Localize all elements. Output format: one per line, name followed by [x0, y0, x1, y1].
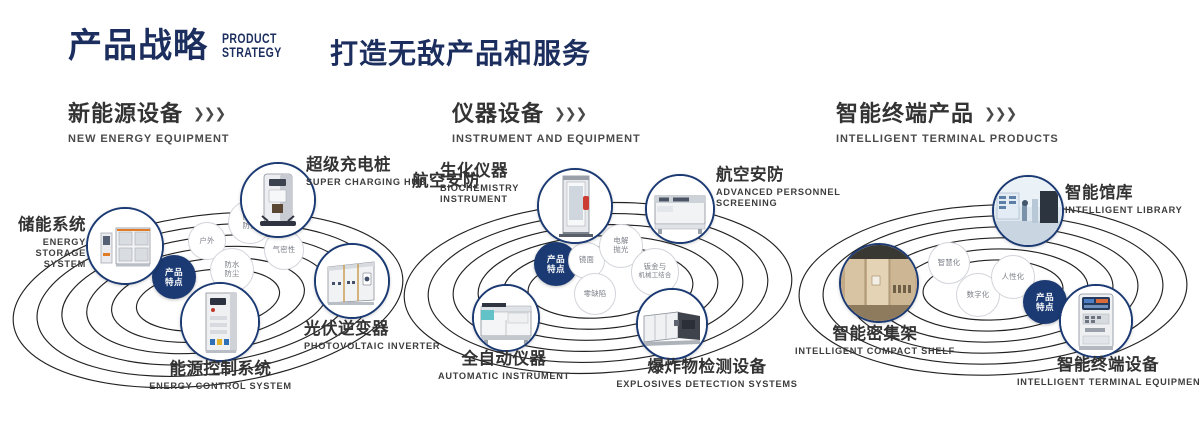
charging-pile-icon — [242, 164, 314, 236]
self-service-kiosk-icon — [1061, 286, 1131, 356]
node-label-intelligent-library: 智能馆库 INTELLIGENT LIBRARY — [1065, 184, 1195, 216]
section-heading-intelligent: 智能终端产品❯❯❯ INTELLIGENT TERMINAL PRODUCTS — [836, 96, 1059, 145]
node-label-biochemistry: 生化仪器 BIOCHEMISTRY INSTRUMENT — [440, 162, 544, 205]
section-title-cn-0: 新能源设备❯❯❯ — [68, 96, 229, 128]
node-label-explosives-detection: 爆炸物检测设备 EXPLOSIVES DETECTION SYSTEMS — [612, 358, 802, 390]
node-label-automatic-instrument: 全自动仪器 AUTOMATIC INSTRUMENT — [420, 350, 588, 382]
node-terminal-equipment[interactable] — [1059, 284, 1133, 358]
node-pv-inverter[interactable] — [314, 243, 390, 319]
screening-machine-icon — [647, 176, 713, 242]
node-automatic-instrument[interactable] — [472, 284, 540, 352]
node-label-compact-shelf: 智能密集架 INTELLIGENT COMPACT SHELF — [785, 325, 965, 357]
chevron-right-icon: ❯❯❯ — [554, 105, 586, 122]
control-cabinet-icon — [182, 284, 258, 360]
node-intelligent-library[interactable] — [992, 175, 1064, 247]
page-subtitle: 打造无敌产品和服务 — [330, 32, 591, 72]
node-explosives-detection[interactable] — [636, 288, 708, 360]
chevron-right-icon: ❯❯❯ — [193, 105, 225, 122]
section-heading-new-energy: 新能源设备❯❯❯ NEW ENERGY EQUIPMENT — [68, 96, 229, 145]
section-heading-instrument: 仪器设备❯❯❯ INSTRUMENT AND EQUIPMENT — [452, 96, 641, 145]
pv-inverter-cabinet-icon — [316, 245, 388, 317]
node-charging-hub[interactable] — [240, 162, 316, 238]
cluster-intelligent-terminal: 智慧化 数字化 人性化 产品 特点 智能馆库 INTELLIGENT LIBRA… — [795, 160, 1195, 410]
page-title-cn: 产品战略 — [68, 26, 208, 66]
center-bubble-line1: 产品 — [165, 267, 183, 277]
cluster-new-energy: 产品 特点 户外 防腐 防锈 防水 防尘 气密性 — [8, 160, 408, 410]
library-room-photo-icon — [994, 177, 1062, 245]
node-compact-shelf[interactable] — [839, 243, 919, 323]
section-title-en-1: INSTRUMENT AND EQUIPMENT — [452, 133, 641, 145]
biochemistry-scanner-icon — [539, 170, 611, 242]
node-label-energy-storage: 储能系统 ENERGY STORAGE SYSTEM — [2, 216, 86, 270]
node-label-terminal-equipment: 智能终端设备 INTELLIGENT TERMINAL EQUIPMENT — [1017, 356, 1199, 388]
section-title-en-0: NEW ENERGY EQUIPMENT — [68, 133, 229, 145]
section-title-cn-1: 仪器设备❯❯❯ — [452, 96, 641, 128]
node-energy-storage[interactable] — [86, 207, 164, 285]
compact-shelf-photo-icon — [841, 245, 917, 321]
node-label-energy-control: 能源控制系统 ENERGY CONTROL SYSTEM — [118, 360, 323, 392]
automatic-analyzer-icon — [474, 286, 538, 350]
explosives-detector-icon — [638, 290, 706, 358]
section-title-cn-2: 智能终端产品❯❯❯ — [836, 96, 1059, 128]
page-title-en-line1: PRODUCT — [222, 32, 284, 46]
feature-bubble-1-2: 零缺陷 — [574, 273, 616, 315]
node-biochemistry[interactable] — [537, 168, 613, 244]
page-title-en-line2: STRATEGY — [222, 46, 284, 60]
page-header: 产品战略 PRODUCT STRATEGY 打造无敌产品和服务 — [0, 0, 1200, 92]
energy-storage-cabinet-icon — [88, 209, 162, 283]
node-personnel-screening[interactable] — [645, 174, 715, 244]
page-title-en: PRODUCT STRATEGY — [222, 32, 284, 60]
cluster-instrument: 航空安防 产品 特点 镜面 电解 抛光 零缺陷 钣金与 机械工结合 — [400, 160, 800, 410]
chevron-right-icon: ❯❯❯ — [984, 105, 1016, 122]
center-bubble-line2: 特点 — [165, 277, 183, 287]
node-energy-control[interactable] — [180, 282, 260, 362]
section-title-en-2: INTELLIGENT TERMINAL PRODUCTS — [836, 133, 1059, 145]
